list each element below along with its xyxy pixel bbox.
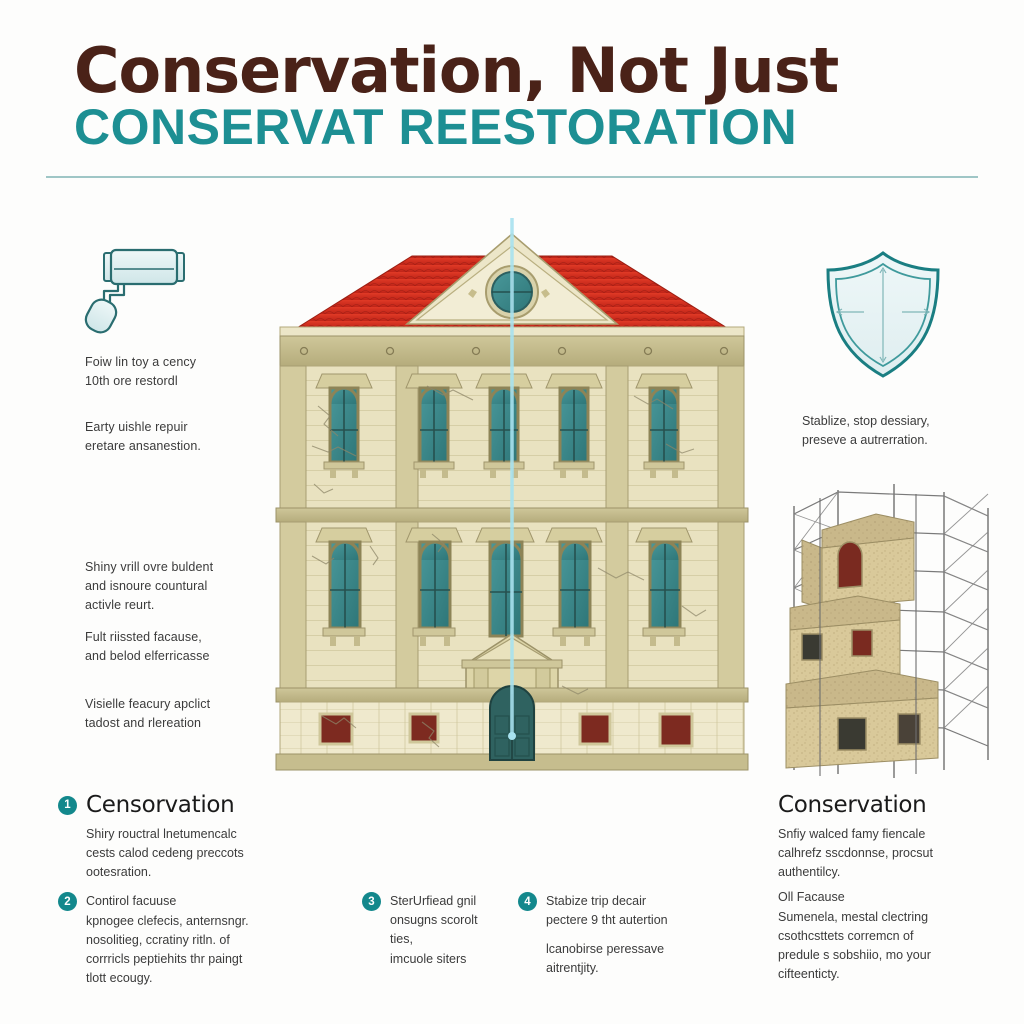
bottom-block-control-facade: 2 Contirol facuuse kpnogee clefecis, ant… — [58, 892, 308, 988]
page-title-primary: Conservation, Not Just — [74, 34, 838, 107]
shield-icon — [818, 248, 948, 388]
block4-body: lcanobirse peressave aitrentjity. — [546, 940, 668, 978]
block1-heading: 1 Censorvation — [58, 792, 308, 818]
left-note-4: Fult riissted facause, and belod elferri… — [85, 628, 270, 666]
left-note-1: Foiw lin toy a cency 10th ore restordl — [85, 353, 270, 391]
scaffold-block-top — [802, 514, 914, 608]
left-note-3: Shiny vrill ovre buldent and isnoure cou… — [85, 558, 270, 614]
infographic-page: Conservation, Not Just CONSERVAT REESTOR… — [0, 0, 1024, 1024]
bottom-block-old-facade: Oll Facause Sumenela, mestal clectring c… — [778, 888, 1013, 984]
paint-roller-icon — [84, 245, 204, 345]
block3-title: SterUrfiead gnil onsugns scorolt ties, — [390, 892, 478, 949]
bottom-block-structural: 3 SterUrfiead gnil onsugns scorolt ties,… — [362, 892, 497, 969]
scaffold-block-bottom — [786, 670, 938, 768]
scaffolding-illustration — [776, 478, 1016, 783]
badge-4: 4 — [518, 892, 537, 911]
block4-title: Stabize trip decair pectere 9 tht autert… — [546, 892, 668, 930]
block2-title: Contirol facuuse — [86, 892, 308, 911]
block5-title: Conservation — [778, 792, 1013, 818]
badge-2: 2 — [58, 892, 77, 911]
badge-1: 1 — [58, 796, 77, 815]
block1-body: Shiry rouctral lnetumencalc cests calod … — [86, 825, 308, 882]
block1-title: Censorvation — [86, 792, 234, 818]
block3-body: imcuole siters — [390, 950, 478, 969]
bottom-block-stabilize: 4 Stabize trip decair pectere 9 tht aute… — [518, 892, 703, 978]
block6-body: Sumenela, mestal clectring csothcsttets … — [778, 908, 1013, 984]
block6-title: Oll Facause — [778, 888, 1013, 907]
right-note-1: Stablize, stop dessiary, preseve a autre… — [802, 412, 997, 451]
scaffold-block-middle — [790, 596, 900, 684]
bottom-block-conservation-right: Conservation Snfiy walced famy fiencale … — [778, 792, 1013, 882]
header-divider — [46, 176, 978, 178]
historic-building-illustration — [262, 216, 762, 781]
block5-body: Snfiy walced famy fiencale calhrefz sscd… — [778, 825, 1013, 882]
bottom-block-conservation-left: 1 Censorvation Shiry rouctral lnetumenca… — [58, 792, 308, 882]
block2-body: kpnogee clefecis, anternsngr. nosolitieg… — [86, 912, 308, 988]
left-note-5: Visielle feacury apclict tadost and rler… — [85, 695, 270, 733]
left-note-2: Earty uishle repuir eretare ansanestion. — [85, 418, 270, 456]
badge-3: 3 — [362, 892, 381, 911]
page-title-secondary: CONSERVAT REESTORATION — [74, 98, 797, 156]
